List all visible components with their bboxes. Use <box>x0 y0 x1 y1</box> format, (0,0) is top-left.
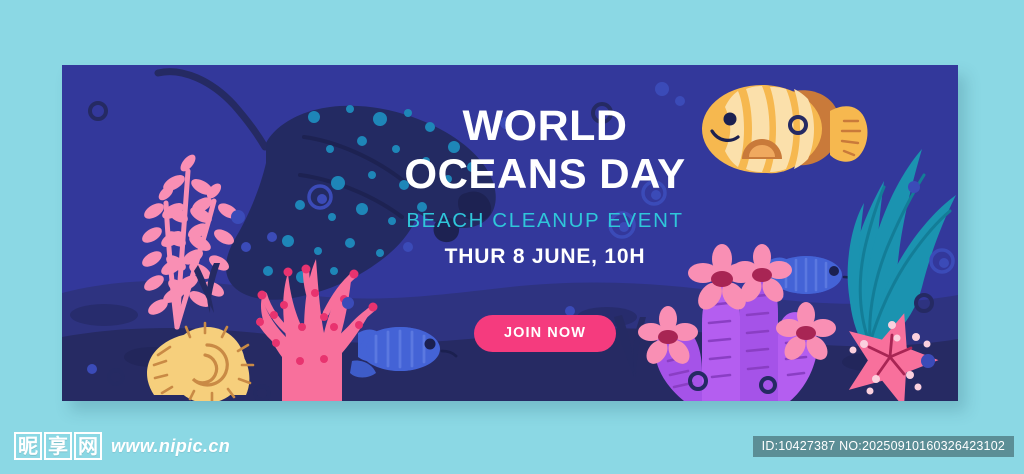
image-id-badge: ID:10427387 NO:20250910160326423102 <box>753 436 1014 457</box>
page-canvas: WORLD OCEANS DAY BEACH CLEANUP EVENT THU… <box>0 0 1024 474</box>
cta-container: JOIN NOW <box>380 315 710 352</box>
watermark-url: www.nipic.cn <box>111 436 230 457</box>
watermark-char-3: 网 <box>74 432 102 460</box>
oceans-day-banner: WORLD OCEANS DAY BEACH CLEANUP EVENT THU… <box>62 65 958 401</box>
watermark-char-2: 享 <box>44 432 72 460</box>
watermark-logo: 昵 享 网 <box>14 432 102 460</box>
site-watermark: 昵 享 网 www.nipic.cn <box>14 432 230 460</box>
watermark-char-1: 昵 <box>14 432 42 460</box>
seabed-pebble <box>70 304 138 326</box>
join-now-button[interactable]: JOIN NOW <box>474 315 616 352</box>
